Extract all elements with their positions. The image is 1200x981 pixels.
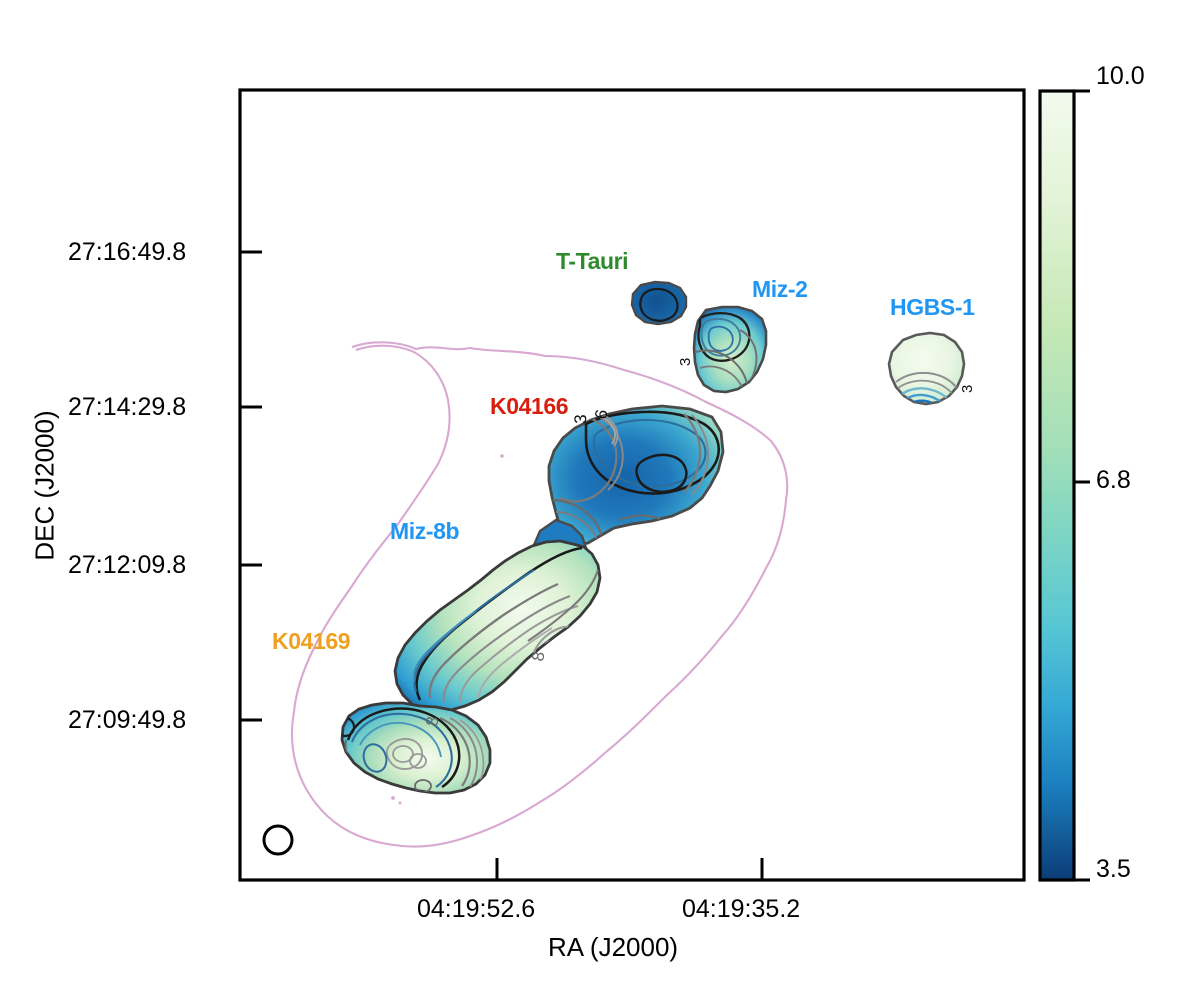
y-tick-label-2: 27:14:29.8	[68, 393, 186, 422]
y-tick-label-1: 27:16:49.8	[68, 238, 186, 267]
source-label-t-tauri: T-Tauri	[556, 248, 628, 275]
source-label-miz-8b: Miz-8b	[390, 518, 459, 545]
y-tick-label-4: 27:09:49.8	[68, 706, 186, 735]
contour-map-svg: 3 3 3 6	[0, 0, 1200, 976]
source-label-k04169: K04169	[272, 628, 350, 655]
colorbar-label-max: 10.0	[1096, 62, 1145, 91]
contour-speck-a	[391, 796, 395, 800]
x-tick-label-2: 04:19:35.2	[682, 895, 800, 924]
figure-panel: 3 3 3 6	[0, 0, 1200, 976]
x-tick-label-1: 04:19:52.6	[417, 895, 535, 924]
x-axis-title: RA (J2000)	[548, 932, 678, 963]
clump-t-tauri	[632, 282, 686, 324]
source-label-hgbs-1: HGBS-1	[890, 294, 975, 321]
colorbar-label-min: 3.5	[1096, 855, 1131, 884]
y-axis-title: DEC (J2000)	[30, 356, 61, 616]
contour-label-k166-a: 3	[571, 414, 590, 424]
colorbar-gradient	[1040, 91, 1074, 880]
contour-speck-c	[500, 454, 504, 458]
colorbar[interactable]	[1040, 91, 1090, 880]
colorbar-label-mid: 6.8	[1096, 466, 1131, 495]
contour-label-miz2: 3	[677, 358, 694, 366]
source-label-k04166: K04166	[490, 393, 568, 420]
y-tick-label-3: 27:12:09.8	[68, 551, 186, 580]
contour-speck-b	[399, 802, 402, 805]
contour-label-hgbs: 3	[959, 385, 976, 393]
source-label-miz-2: Miz-2	[752, 276, 808, 303]
